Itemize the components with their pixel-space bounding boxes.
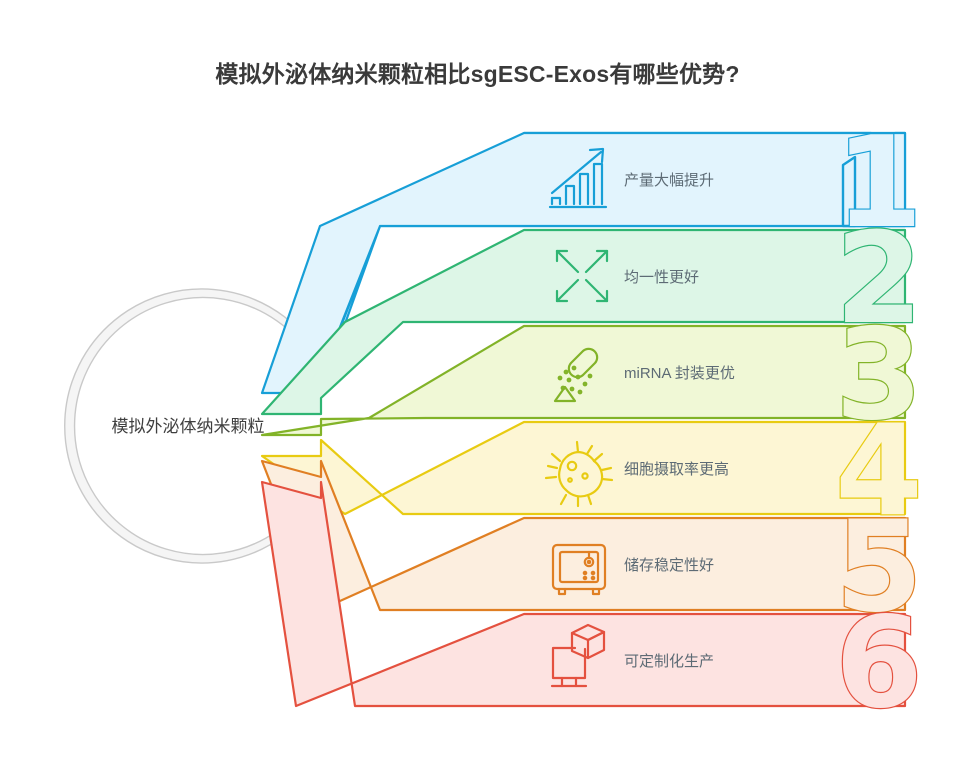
band-label-2: 均一性更好 <box>624 269 699 286</box>
band-label-6: 可定制化生产 <box>624 653 714 670</box>
band-body-4 <box>262 422 905 514</box>
band-label-3: miRNA 封装更优 <box>624 365 735 382</box>
band-label-5: 储存稳定性好 <box>624 557 714 574</box>
funnel-diagram: 模拟外泌体纳米颗粒 1 产量大幅提升 2 <box>0 0 955 759</box>
band-number-6: 6 <box>835 589 923 736</box>
infographic-canvas: 模拟外泌体纳米颗粒相比sgESC-Exos有哪些优势? 模拟外泌体纳米颗粒 1 <box>0 0 955 759</box>
hub-label: 模拟外泌体纳米颗粒 <box>112 417 265 436</box>
band-label-1: 产量大幅提升 <box>624 172 714 189</box>
band-label-4: 细胞摄取率更高 <box>624 461 729 478</box>
